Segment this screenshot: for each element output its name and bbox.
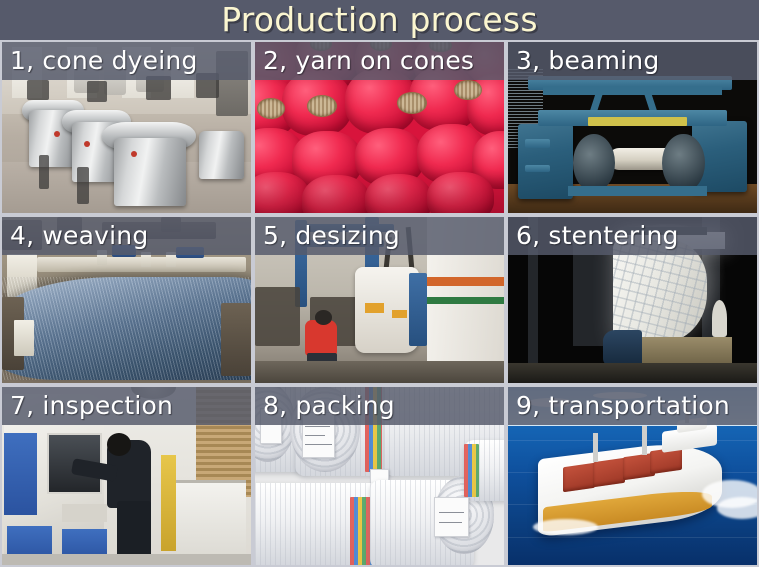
cell-3-label: 3, beaming bbox=[516, 48, 659, 74]
process-cell-8[interactable]: 8, packing bbox=[253, 385, 506, 567]
process-cell-6[interactable]: 6, stentering bbox=[506, 215, 759, 385]
cell-5-label: 5, desizing bbox=[263, 223, 400, 249]
cell-1-label: 1, cone dyeing bbox=[10, 48, 198, 74]
page-title: Production process bbox=[221, 3, 537, 37]
process-cell-9[interactable]: 9, transportation bbox=[506, 385, 759, 567]
cell-6-label: 6, stentering bbox=[516, 223, 679, 249]
process-cell-1[interactable]: 1, cone dyeing bbox=[0, 40, 253, 215]
cell-2-label-bar: 2, yarn on cones bbox=[255, 42, 504, 80]
cell-8-label: 8, packing bbox=[263, 393, 395, 419]
cell-1-label-bar: 1, cone dyeing bbox=[2, 42, 251, 80]
cell-9-label-bar: 9, transportation bbox=[508, 387, 757, 425]
process-cell-4[interactable]: 4, weaving bbox=[0, 215, 253, 385]
cell-6-label-bar: 6, stentering bbox=[508, 217, 757, 255]
cell-7-label-bar: 7, inspection bbox=[2, 387, 251, 425]
cell-2-label: 2, yarn on cones bbox=[263, 48, 474, 74]
process-cell-5[interactable]: 5, desizing bbox=[253, 215, 506, 385]
process-cell-2[interactable]: 2, yarn on cones bbox=[253, 40, 506, 215]
cell-3-label-bar: 3, beaming bbox=[508, 42, 757, 80]
cell-7-label: 7, inspection bbox=[10, 393, 173, 419]
cell-4-label-bar: 4, weaving bbox=[2, 217, 251, 255]
production-process-infographic: Production process bbox=[0, 0, 759, 567]
cell-9-label: 9, transportation bbox=[516, 393, 730, 419]
cell-4-label: 4, weaving bbox=[10, 223, 148, 249]
cell-8-label-bar: 8, packing bbox=[255, 387, 504, 425]
page-title-bar: Production process bbox=[0, 0, 759, 40]
cell-5-label-bar: 5, desizing bbox=[255, 217, 504, 255]
process-cell-7[interactable]: 7, inspection bbox=[0, 385, 253, 567]
process-grid: 1, cone dyeing bbox=[0, 40, 759, 567]
process-cell-3[interactable]: 3, beaming bbox=[506, 40, 759, 215]
